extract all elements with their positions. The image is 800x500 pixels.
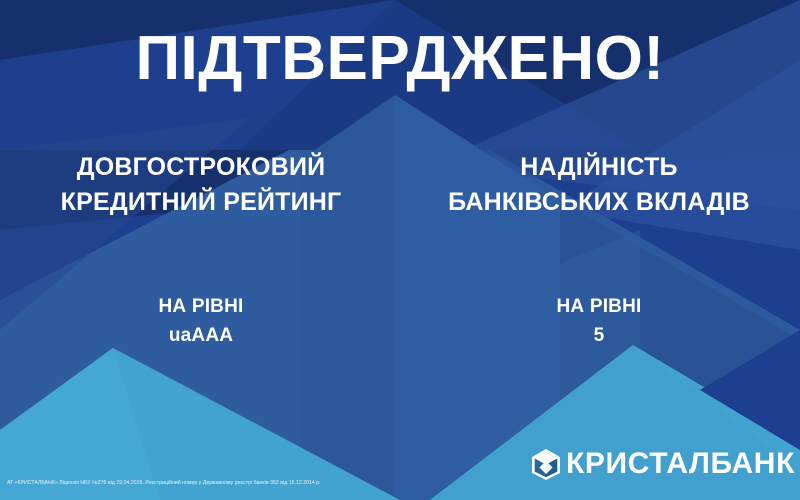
column-left-title-line2: КРЕДИТНИЙ РЕЙТИНГ bbox=[6, 185, 396, 220]
column-right-level-value: 5 bbox=[404, 321, 794, 350]
brand-logo: КРИСТАЛБАНК bbox=[529, 447, 795, 481]
column-left-level-value: uaAAA bbox=[6, 321, 396, 350]
column-left-level-label: НА РІВНІ bbox=[6, 292, 396, 321]
column-right-title-line2: БАНКІВСЬКИХ ВКЛАДІВ bbox=[404, 185, 794, 220]
crystal-hexagon-icon bbox=[529, 447, 563, 481]
column-left-title: ДОВГОСТРОКОВИЙ КРЕДИТНИЙ РЕЙТИНГ bbox=[6, 150, 396, 219]
rating-column-left: ДОВГОСТРОКОВИЙ КРЕДИТНИЙ РЕЙТИНГ НА РІВН… bbox=[6, 150, 396, 351]
column-right-title: НАДІЙНІСТЬ БАНКІВСЬКИХ ВКЛАДІВ bbox=[404, 150, 794, 219]
rating-column-right: НАДІЙНІСТЬ БАНКІВСЬКИХ ВКЛАДІВ НА РІВНІ … bbox=[404, 150, 794, 351]
page-title: ПІДТВЕРДЖЕНО! bbox=[0, 26, 800, 91]
legal-disclaimer: АТ «КРИСТАЛБАНК» Ліцензія НБУ №276 від 2… bbox=[7, 481, 321, 486]
promo-poster: ПІДТВЕРДЖЕНО! ДОВГОСТРОКОВИЙ КРЕДИТНИЙ Р… bbox=[0, 0, 800, 500]
column-right-level-label: НА РІВНІ bbox=[404, 292, 794, 321]
column-left-title-line1: ДОВГОСТРОКОВИЙ bbox=[77, 153, 326, 181]
column-right-title-line1: НАДІЙНІСТЬ bbox=[520, 153, 677, 181]
brand-name: КРИСТАЛБАНК bbox=[566, 449, 795, 479]
